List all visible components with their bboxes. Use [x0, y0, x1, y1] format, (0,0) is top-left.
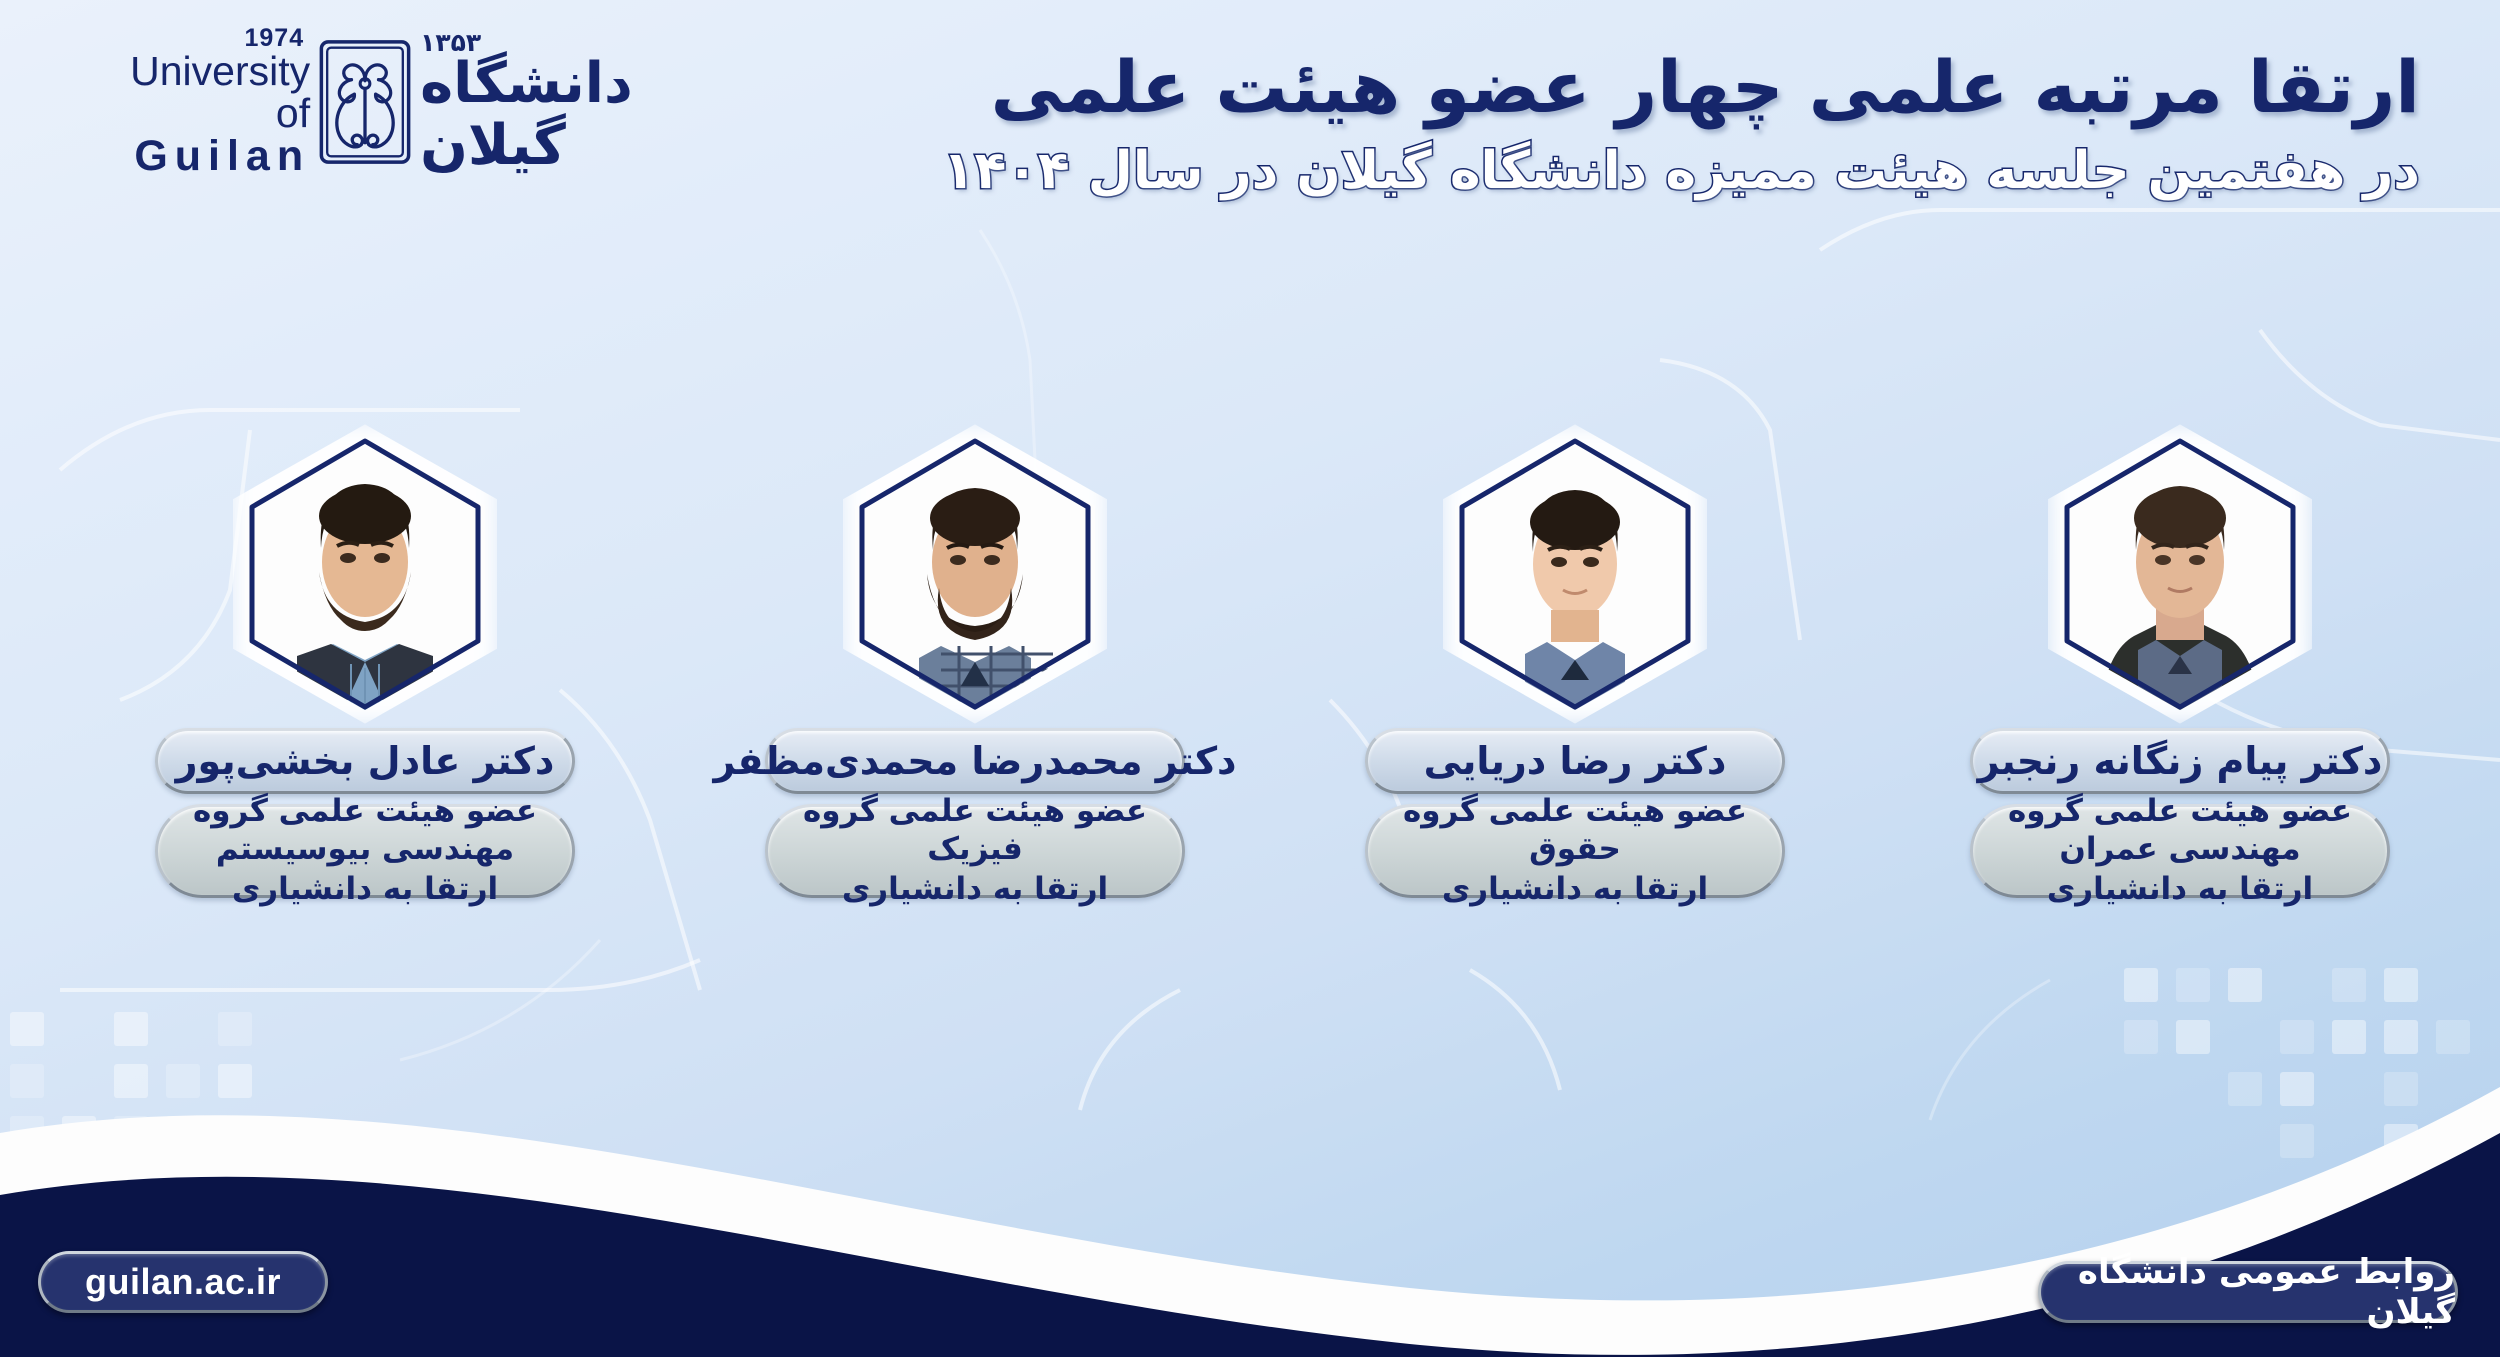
university-logo: 1974 University of Guilan ۱۳۵۳ دانشگاه	[112, 32, 752, 172]
website-url: guilan.ac.ir	[85, 1261, 281, 1303]
portrait-outline	[245, 438, 485, 710]
portrait-frame	[245, 438, 485, 710]
headline-block: ارتقا مرتبه علمی چهار عضو هیئت علمی در ه…	[800, 42, 2420, 206]
faculty-department: عضو هیئت علمی گروه فیزیک	[768, 793, 1182, 869]
portrait-frame	[1455, 438, 1695, 710]
faculty-promotion: ارتقا به دانشیاری	[232, 871, 498, 909]
faculty-row: دکتر پیام زنگانه رنجبر عضو هیئت علمی گرو…	[0, 438, 2500, 998]
poster-canvas: 1974 University of Guilan ۱۳۵۳ دانشگاه	[0, 0, 2500, 1357]
public-relations-label: روابط عمومی دانشگاه گیلان	[2041, 1252, 2455, 1332]
faculty-name-pill: دکتر محمدرضا محمدی‌مظفر	[765, 728, 1185, 794]
portrait-outline	[2060, 438, 2300, 710]
faculty-card[interactable]: دکتر محمدرضا محمدی‌مظفر عضو هیئت علمی گر…	[760, 438, 1190, 898]
public-relations-badge: روابط عمومی دانشگاه گیلان	[2038, 1261, 2458, 1323]
page-title: ارتقا مرتبه علمی چهار عضو هیئت علمی	[800, 42, 2420, 132]
logo-english-text: 1974 University of Guilan	[112, 26, 310, 179]
faculty-name-pill: دکتر رضا دریایی	[1365, 728, 1785, 794]
faculty-name: دکتر رضا دریایی	[1424, 739, 1727, 783]
faculty-department: عضو هیئت علمی گروه مهندسی عمران	[1973, 793, 2387, 869]
guilan-emblem-icon	[316, 38, 414, 166]
logo-university-name-fa: دانشگاه گیلان	[420, 53, 752, 176]
faculty-department: عضو هیئت علمی گروه مهندسی بیوسیستم	[158, 793, 572, 869]
page-subtitle: در هفتمین جلسه هیئت ممیزه دانشگاه گیلان …	[800, 138, 2420, 206]
faculty-name: دکتر محمدرضا محمدی‌مظفر	[713, 739, 1236, 783]
logo-persian-text: ۱۳۵۳ دانشگاه گیلان	[420, 28, 752, 176]
faculty-department: عضو هیئت علمی گروه حقوق	[1368, 793, 1782, 869]
faculty-name-pill: دکتر عادل بخشی‌پور	[155, 728, 575, 794]
faculty-name: دکتر عادل بخشی‌پور	[176, 739, 555, 783]
faculty-name-pill: دکتر پیام زنگانه رنجبر	[1970, 728, 2390, 794]
portrait-outline	[1455, 438, 1695, 710]
website-url-badge[interactable]: guilan.ac.ir	[38, 1251, 328, 1313]
logo-university-of: University of	[112, 51, 310, 135]
faculty-role-pill: عضو هیئت علمی گروه مهندسی عمران ارتقا به…	[1970, 804, 2390, 898]
faculty-card[interactable]: دکتر عادل بخشی‌پور عضو هیئت علمی گروه مه…	[150, 438, 580, 898]
faculty-role-pill: عضو هیئت علمی گروه فیزیک ارتقا به دانشیا…	[765, 804, 1185, 898]
faculty-name: دکتر پیام زنگانه رنجبر	[1978, 739, 2383, 783]
faculty-card[interactable]: دکتر پیام زنگانه رنجبر عضو هیئت علمی گرو…	[1965, 438, 2395, 898]
faculty-card[interactable]: دکتر رضا دریایی عضو هیئت علمی گروه حقوق …	[1360, 438, 1790, 898]
logo-guilan: Guilan	[112, 135, 310, 179]
portrait-frame	[2060, 438, 2300, 710]
faculty-promotion: ارتقا به دانشیاری	[1442, 871, 1708, 909]
faculty-role-pill: عضو هیئت علمی گروه مهندسی بیوسیستم ارتقا…	[155, 804, 575, 898]
faculty-role-pill: عضو هیئت علمی گروه حقوق ارتقا به دانشیار…	[1365, 804, 1785, 898]
faculty-promotion: ارتقا به دانشیاری	[2047, 871, 2313, 909]
portrait-outline	[855, 438, 1095, 710]
portrait-frame	[855, 438, 1095, 710]
faculty-promotion: ارتقا به دانشیاری	[842, 871, 1108, 909]
